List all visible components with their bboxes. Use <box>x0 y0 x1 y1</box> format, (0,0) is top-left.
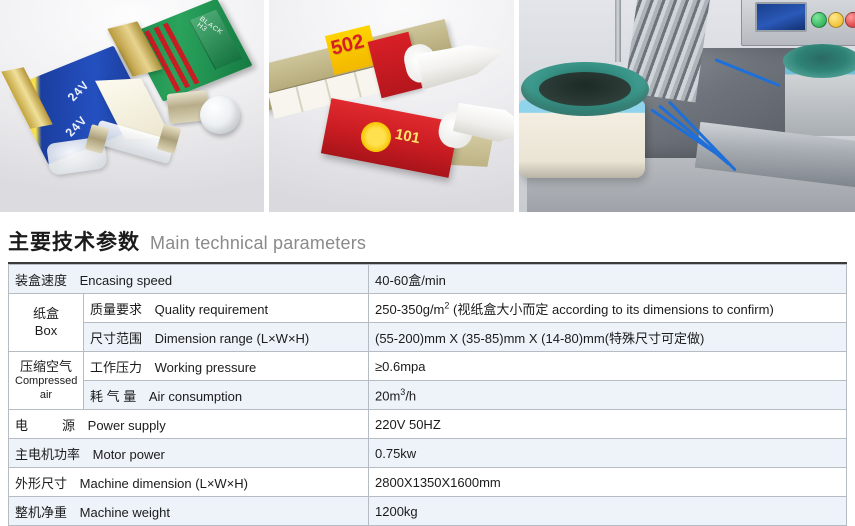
label-en: Air consumption <box>149 389 242 404</box>
row-value-motor-power: 0.75kw <box>369 439 847 468</box>
row-value-quality-requirement: 250-350g/m2 (视纸盒大小而定 according to its di… <box>369 294 847 323</box>
vertical-support-post <box>615 0 621 62</box>
table-row: 尺寸范围 Dimension range (L×W×H) (55-200)mm … <box>9 323 847 352</box>
cartoning-machine-photo[interactable] <box>519 0 855 212</box>
table-row: 电源 Power supply 220V 50HZ <box>9 410 847 439</box>
value-rest: (视纸盒大小而定 according to its dimensions to … <box>449 302 773 317</box>
label-cn: 主电机功率 <box>15 447 80 462</box>
table-row: 纸盒 Box 质量要求 Quality requirement 250-350g… <box>9 294 847 323</box>
row-label-machine-dimension: 外形尺寸 Machine dimension (L×W×H) <box>9 468 369 497</box>
box-label-black: BLACK <box>198 16 224 37</box>
label-en: Power supply <box>88 418 166 433</box>
label-cn: 尺寸范围 <box>90 331 142 346</box>
row-value-encasing-speed: 40-60盒/min <box>369 265 847 294</box>
label-cn: 质量要求 <box>90 302 142 317</box>
label-en: Machine dimension (L×W×H) <box>80 476 248 491</box>
group-label-en: Box <box>15 323 77 339</box>
table-row: 耗 气 量 Air consumption 20m3/h <box>9 381 847 410</box>
table-row: 主电机功率 Motor power 0.75kw <box>9 439 847 468</box>
label-cn: 整机净重 <box>15 505 67 520</box>
label-en: Quality requirement <box>155 302 268 317</box>
label-cn: 外形尺寸 <box>15 476 67 491</box>
hmi-touchscreen <box>755 2 807 32</box>
value-main: 20m <box>375 388 400 403</box>
table-row: 装盒速度 Encasing speed 40-60盒/min <box>9 265 847 294</box>
glue-tubes-photo[interactable]: 502 101 <box>269 0 514 212</box>
yellow-mode-button-icon <box>828 12 844 28</box>
small-vibratory-bowl-rim <box>783 44 855 78</box>
value-rest: /h <box>405 388 416 403</box>
row-label-power-supply: 电源 Power supply <box>9 410 369 439</box>
group-label-cn: 压缩空气 <box>15 359 77 375</box>
row-label-working-pressure: 工作压力 Working pressure <box>84 352 369 381</box>
row-value-dimension-range: (55-200)mm X (35-85)mm X (14-80)mm(特殊尺寸可… <box>369 323 847 352</box>
bulb-glass-envelope <box>200 96 240 134</box>
row-label-air-consumption: 耗 气 量 Air consumption <box>84 381 369 410</box>
row-value-machine-dimension: 2800X1350X1600mm <box>369 468 847 497</box>
group-label-compressed-air: 压缩空气 Compressed air <box>9 352 84 410</box>
label-cn-b: 源 <box>62 418 75 433</box>
table-row: 压缩空气 Compressed air 工作压力 Working pressur… <box>9 352 847 381</box>
label-en: Encasing speed <box>80 273 173 288</box>
value-main: 250-350g/m <box>375 302 444 317</box>
row-label-dimension-range: 尺寸范围 Dimension range (L×W×H) <box>84 323 369 352</box>
box-label-h3: H3 <box>196 22 209 33</box>
group-label-box: 纸盒 Box <box>9 294 84 352</box>
group-label-en: Compressed air <box>15 375 77 403</box>
section-heading: 主要技术参数 Main technical parameters <box>0 212 855 262</box>
box-label-24v-a: 24V <box>64 78 93 103</box>
technical-parameters-table: 装盒速度 Encasing speed 40-60盒/min 纸盒 Box 质量… <box>8 264 847 526</box>
label-cn: 装盒速度 <box>15 273 67 288</box>
row-value-machine-weight: 1200kg <box>369 497 847 526</box>
row-label-motor-power: 主电机功率 Motor power <box>9 439 369 468</box>
product-photo-strip: BLACK H3 24V 24V 502 101 <box>0 0 855 212</box>
row-label-quality-requirement: 质量要求 Quality requirement <box>84 294 369 323</box>
row-value-air-consumption: 20m3/h <box>369 381 847 410</box>
bulb-boxes-photo[interactable]: BLACK H3 24V 24V <box>0 0 264 212</box>
green-start-button-icon <box>811 12 827 28</box>
label-en: Machine weight <box>80 505 170 520</box>
label-cn: 耗 气 量 <box>90 389 136 404</box>
section-heading-cn: 主要技术参数 <box>8 226 140 256</box>
label-cn: 工作压力 <box>90 360 142 375</box>
red-stop-button-icon <box>845 12 855 28</box>
row-value-working-pressure: ≥0.6mpa <box>369 352 847 381</box>
label-en: Dimension range (L×W×H) <box>155 331 310 346</box>
large-bowl-interior <box>539 72 631 106</box>
table-row: 外形尺寸 Machine dimension (L×W×H) 2800X1350… <box>9 468 847 497</box>
row-label-machine-weight: 整机净重 Machine weight <box>9 497 369 526</box>
table-row: 整机净重 Machine weight 1200kg <box>9 497 847 526</box>
section-heading-en: Main technical parameters <box>150 233 366 254</box>
label-en: Motor power <box>93 447 165 462</box>
group-label-cn: 纸盒 <box>15 306 77 322</box>
label-cn-a: 电 <box>15 418 28 433</box>
row-label-encasing-speed: 装盒速度 Encasing speed <box>9 265 369 294</box>
label-en: Working pressure <box>155 360 257 375</box>
row-value-power-supply: 220V 50HZ <box>369 410 847 439</box>
box-label-24v-b: 24V <box>62 114 91 139</box>
